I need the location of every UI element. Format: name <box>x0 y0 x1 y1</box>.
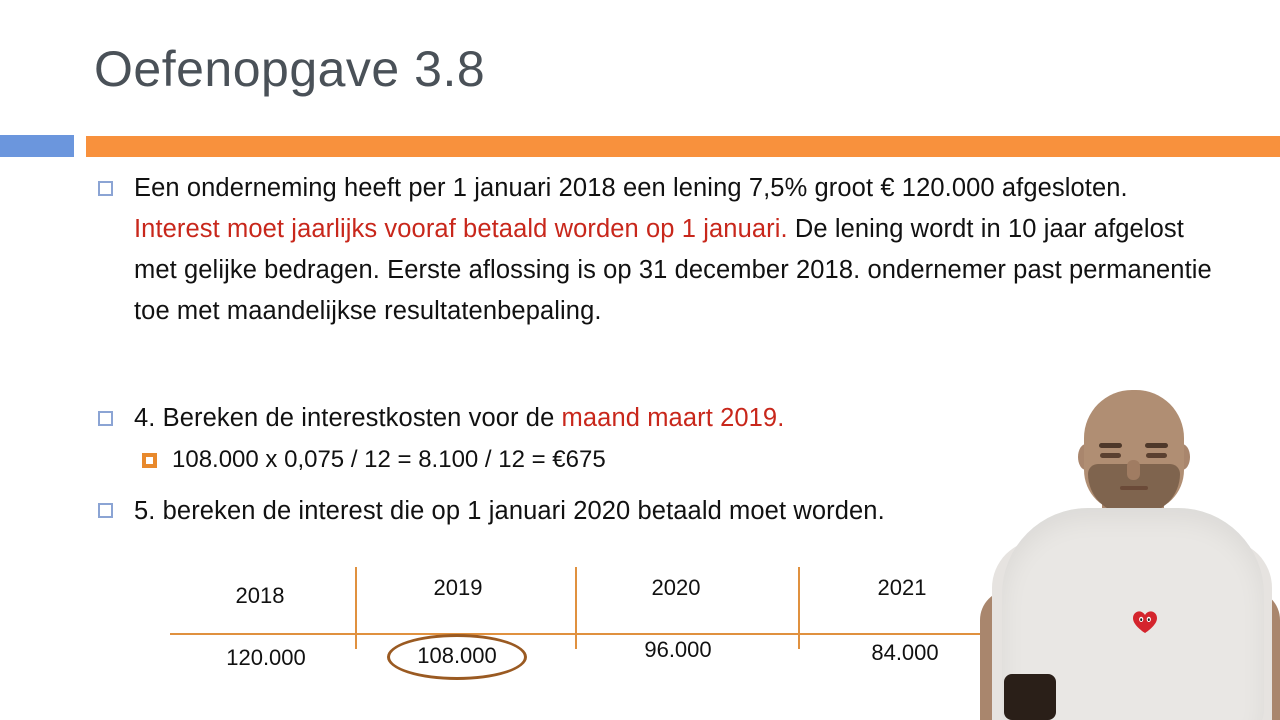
timeline-tick-3 <box>798 567 800 649</box>
timeline-year-2019: 2019 <box>398 575 518 601</box>
presenter-arm-left <box>980 590 1042 720</box>
sub-bullet-item-answer-4: 108.000 x 0,075 / 12 = 8.100 / 12 = €675 <box>0 443 1280 477</box>
question-4-text: 4. Bereken de interestkosten voor de maa… <box>134 398 1210 439</box>
orange-square-bullet-icon <box>142 453 157 468</box>
square-bullet-icon <box>98 181 113 196</box>
bullet-item-intro: Een onderneming heeft per 1 januari 2018… <box>0 168 1280 332</box>
timeline-year-2021: 2021 <box>842 575 962 601</box>
timeline-amount-2019: 108.000 <box>397 643 517 669</box>
square-bullet-icon <box>98 411 113 426</box>
square-bullet-icon <box>98 503 113 518</box>
timeline-amount-2020: 96.000 <box>618 637 738 663</box>
presenter-shoulder-right <box>1186 540 1272 720</box>
presenter-arm-right <box>1224 590 1280 720</box>
intro-text-part1: Een onderneming heeft per 1 januari 2018… <box>134 174 1128 202</box>
timeline-year-2018: 2018 <box>200 583 320 609</box>
intro-paragraph: Een onderneming heeft per 1 januari 2018… <box>134 168 1219 332</box>
timeline-tick-2 <box>575 567 577 649</box>
bullet-item-question-5: 5. bereken de interest die op 1 januari … <box>0 491 1280 532</box>
highlight-ellipse <box>387 634 527 680</box>
timeline-year-2020: 2020 <box>616 575 736 601</box>
timeline-amount-2021: 84.000 <box>845 640 965 666</box>
slide-body: Een onderneming heeft per 1 januari 2018… <box>0 168 1280 532</box>
presenter-shirt <box>1002 508 1264 720</box>
intro-text-highlight: Interest moet jaarlijks vooraf betaald w… <box>134 215 788 243</box>
question-4-highlight: maand maart 2019. <box>562 404 785 432</box>
question-5-text: 5. bereken de interest die op 1 januari … <box>134 491 1210 532</box>
heart-logo-icon <box>1132 610 1158 634</box>
timeline-tick-1 <box>355 567 357 649</box>
page-title: Oefenopgave 3.8 <box>94 42 485 97</box>
timeline-amount-2018: 120.000 <box>206 645 326 671</box>
header-rule-orange <box>86 136 1280 157</box>
answer-4-text: 108.000 x 0,075 / 12 = 8.100 / 12 = €675 <box>172 443 1280 477</box>
slide: Oefenopgave 3.8 Een onderneming heeft pe… <box>0 0 1280 720</box>
question-4-part1: 4. Bereken de interestkosten voor de <box>134 404 562 432</box>
header-rule-blue <box>0 135 74 157</box>
timeline-axis <box>170 633 980 635</box>
presenter-shoulder-left <box>992 540 1078 720</box>
presenter-background-shadow <box>1004 674 1056 720</box>
bullet-item-question-4: 4. Bereken de interestkosten voor de maa… <box>0 398 1280 439</box>
